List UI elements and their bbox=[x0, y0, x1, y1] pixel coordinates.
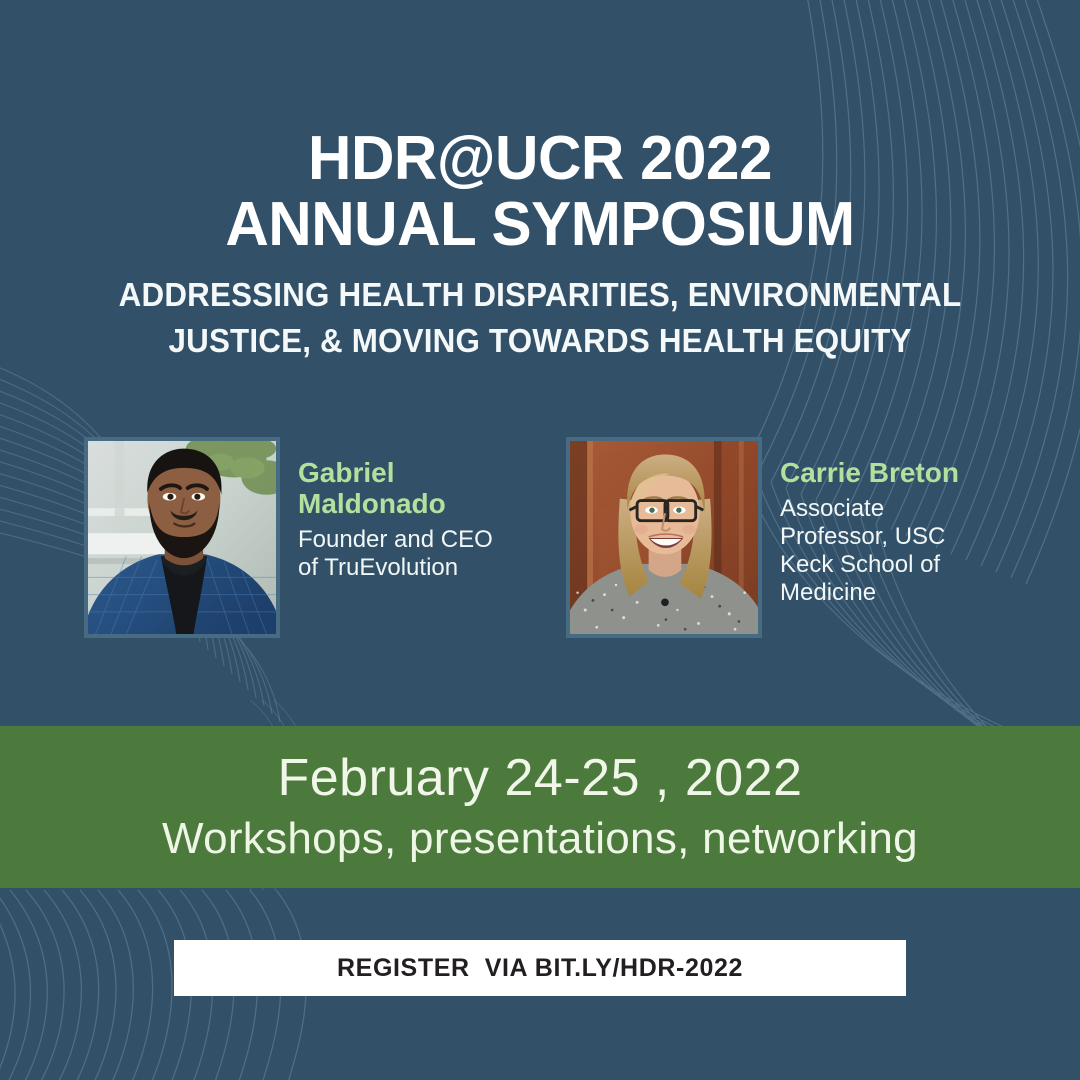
portrait-gabriel-maldonado bbox=[84, 437, 280, 638]
page-subtitle-line-1: ADDRESSING HEALTH DISPARITIES, ENVIRONME… bbox=[27, 272, 1053, 318]
speaker-info-carrie-breton: Carrie Breton Associate Professor, USC K… bbox=[780, 437, 985, 607]
speaker-role: Associate Professor, USC Keck School of … bbox=[780, 495, 985, 607]
speaker-info-gabriel-maldonado: Gabriel Maldonado Founder and CEO of Tru… bbox=[298, 437, 503, 582]
event-details-band: February 24-25 , 2022 Workshops, present… bbox=[0, 726, 1080, 888]
subtitle-block: ADDRESSING HEALTH DISPARITIES, ENVIRONME… bbox=[0, 272, 1080, 364]
portrait-carrie-breton bbox=[566, 437, 762, 638]
speakers-section: Gabriel Maldonado Founder and CEO of Tru… bbox=[0, 437, 1080, 647]
page-title-line-2: ANNUAL SYMPOSIUM bbox=[16, 192, 1064, 258]
headline-block: HDR@UCR 2022 ANNUAL SYMPOSIUM ADDRESSING… bbox=[0, 126, 1080, 364]
event-description: Workshops, presentations, networking bbox=[162, 813, 918, 865]
speaker-card-gabriel-maldonado: Gabriel Maldonado Founder and CEO of Tru… bbox=[84, 437, 503, 638]
speaker-name: Gabriel Maldonado bbox=[298, 457, 498, 519]
speaker-card-carrie-breton: Carrie Breton Associate Professor, USC K… bbox=[566, 437, 985, 638]
symposium-poster: HDR@UCR 2022 ANNUAL SYMPOSIUM ADDRESSING… bbox=[0, 0, 1080, 1080]
page-subtitle-line-2: JUSTICE, & MOVING TOWARDS HEALTH EQUITY bbox=[27, 318, 1053, 364]
page-title-line-1: HDR@UCR 2022 bbox=[16, 126, 1064, 192]
speaker-name: Carrie Breton bbox=[780, 457, 980, 488]
event-date: February 24-25 , 2022 bbox=[277, 749, 802, 807]
register-button[interactable]: REGISTER VIA BIT.LY/HDR-2022 bbox=[174, 940, 906, 996]
speaker-role: Founder and CEO of TruEvolution bbox=[298, 526, 503, 582]
register-button-label: REGISTER VIA BIT.LY/HDR-2022 bbox=[337, 954, 743, 983]
